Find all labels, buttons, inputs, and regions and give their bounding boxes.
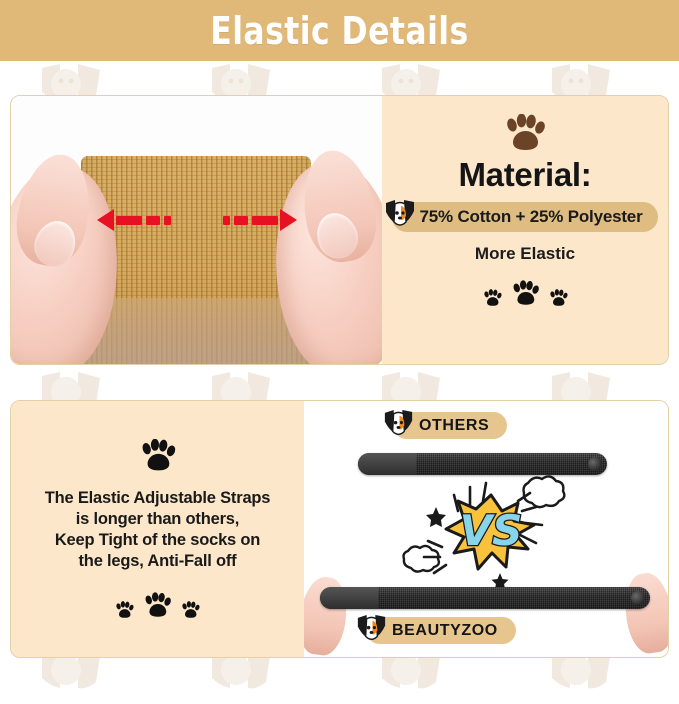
strap-description-panel: The Elastic Adjustable Straps is longer … — [11, 401, 304, 657]
material-title: Material: — [458, 156, 591, 194]
beautyzoo-label-text: BEAUTYZOO — [392, 622, 498, 640]
dog-head-logo-icon — [382, 198, 418, 234]
material-composition-text: 75% Cotton + 25% Polyester — [420, 207, 643, 227]
description-line: The Elastic Adjustable Straps — [45, 488, 271, 509]
others-label-tag: OTHERS — [393, 412, 507, 439]
others-label-text: OTHERS — [419, 417, 489, 435]
sock-body — [81, 298, 311, 364]
strap-end-left — [358, 453, 416, 475]
description-line: is longer than others, — [45, 509, 271, 530]
stretch-arrows — [97, 208, 297, 232]
material-info-panel: Material: 75% Cotton + 25% Polyester Mor… — [382, 96, 668, 364]
vs-badge-text: VS — [460, 506, 523, 555]
paw-print-small-icon — [482, 289, 503, 308]
paw-print-brown-icon — [502, 114, 548, 154]
more-elastic-label: More Elastic — [475, 244, 575, 264]
arrow-right-dashed-icon — [221, 208, 297, 232]
sock-stretch-photo — [11, 96, 382, 364]
paw-print-large-icon — [510, 280, 541, 308]
beautyzoo-strap-image — [320, 587, 650, 609]
paw-decoration-row — [482, 280, 569, 308]
material-composition-pill: 75% Cotton + 25% Polyester — [392, 202, 659, 232]
description-line: the legs, Anti-Fall off — [45, 551, 271, 572]
arrow-left-dashed-icon — [97, 208, 173, 232]
strap-description-text: The Elastic Adjustable Straps is longer … — [45, 488, 271, 572]
dog-head-logo-icon — [354, 613, 389, 648]
strap-end-cap — [588, 457, 602, 471]
paw-print-large-icon — [142, 592, 173, 620]
paw-print-black-icon — [138, 439, 178, 474]
paw-print-small-icon — [114, 601, 135, 620]
paw-decoration-row — [114, 592, 201, 620]
right-fingers-holding-strap — [621, 570, 668, 656]
dog-head-logo-icon — [381, 408, 416, 443]
strap-comparison-photo-panel: OTHERS — [304, 401, 668, 657]
vs-badge: VS — [396, 473, 586, 591]
page-title: Elastic Details — [210, 12, 468, 50]
others-strap-image — [358, 453, 607, 475]
beautyzoo-label-tag: BEAUTYZOO — [366, 617, 516, 644]
paw-print-small-icon — [548, 289, 569, 308]
strap-end-left — [320, 587, 378, 609]
paw-print-small-icon — [180, 601, 201, 620]
description-line: Keep Tight of the socks on — [45, 530, 271, 551]
elastic-stretch-card: Material: 75% Cotton + 25% Polyester Mor… — [10, 95, 669, 365]
header-banner: Elastic Details — [0, 0, 679, 61]
strap-end-cap — [631, 591, 645, 605]
strap-comparison-card: The Elastic Adjustable Straps is longer … — [10, 400, 669, 658]
